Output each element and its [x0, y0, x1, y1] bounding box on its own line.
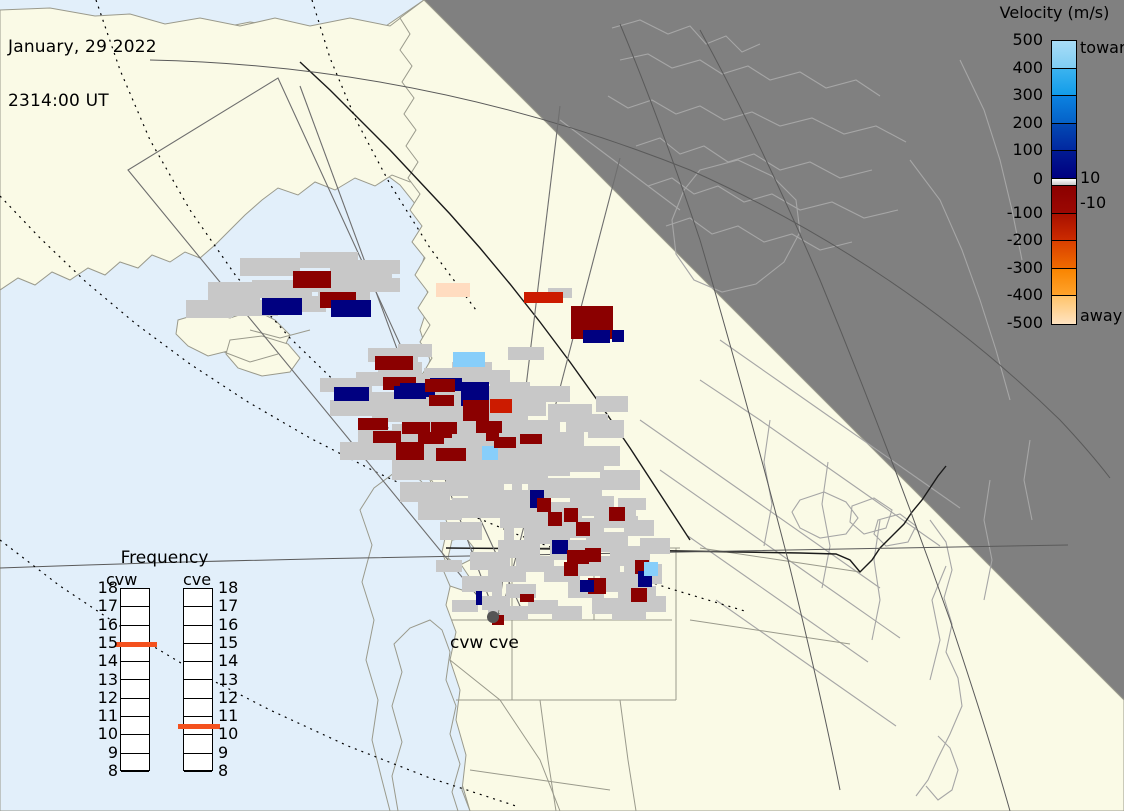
frequency-bar-cvw[interactable] [120, 588, 150, 771]
site-label-cvw: cvw [450, 633, 483, 653]
velocity-tick-100: 100 [1012, 142, 1043, 158]
velocity-band--400-to--300 [1052, 269, 1076, 297]
velocity-band--100-to--10 [1052, 186, 1076, 214]
velocity-cell [537, 498, 551, 512]
radar-fan-plot: January, 29 2022 2314:00 UT Velocity (m/… [0, 0, 1124, 811]
velocity-cell [524, 292, 563, 303]
velocity-cell [436, 283, 470, 297]
velocity-tick-400: 400 [1012, 60, 1043, 76]
velocity-cell [609, 507, 625, 521]
velocity-legend-title: Velocity (m/s) [985, 3, 1124, 22]
frequency-tick-cve-11: 11 [218, 708, 238, 724]
velocity-cell [425, 379, 455, 392]
velocity-band-10-to-100 [1052, 151, 1076, 179]
frequency-cell [184, 644, 212, 662]
velocity-tick-500: 500 [1012, 32, 1043, 48]
velocity-cell [463, 400, 489, 421]
frequency-cell [184, 680, 212, 698]
velocity-inner-lower-label: -10 [1080, 195, 1106, 211]
velocity-colorbar [1051, 40, 1077, 325]
frequency-tick-cvw-15: 15 [98, 635, 118, 651]
velocity-tick-300: 300 [1012, 87, 1043, 103]
velocity-cell [520, 434, 542, 444]
frequency-cell [184, 626, 212, 644]
frequency-tick-cvw-14: 14 [98, 653, 118, 669]
frequency-tick-cve-16: 16 [218, 617, 238, 633]
velocity-cell [331, 300, 371, 317]
velocity-tick--400: -400 [1007, 287, 1043, 303]
frequency-tick-cve-8: 8 [218, 763, 228, 779]
velocity-cell [396, 442, 424, 460]
frequency-cell [121, 607, 149, 625]
frequency-tick-cve-12: 12 [218, 690, 238, 706]
frequency-tick-cve-10: 10 [218, 726, 238, 742]
velocity-band-200-to-300 [1052, 96, 1076, 124]
frequency-tick-cvw-12: 12 [98, 690, 118, 706]
frequency-cell [184, 662, 212, 680]
velocity-band--500-to--400 [1052, 296, 1076, 324]
frequency-tick-cvw-8: 8 [108, 763, 118, 779]
velocity-cell [440, 428, 452, 438]
frequency-cell [184, 754, 212, 772]
velocity-cell [429, 395, 454, 406]
site-label-cve: cve [489, 633, 519, 653]
frequency-tick-cvw-11: 11 [98, 708, 118, 724]
frequency-tick-cvw-9: 9 [108, 745, 118, 761]
velocity-cell [631, 588, 647, 602]
timestamp-time: 2314:00 UT [8, 92, 157, 110]
frequency-tick-cvw-17: 17 [98, 598, 118, 614]
frequency-cell [121, 589, 149, 607]
frequency-cell [184, 735, 212, 753]
frequency-cell [121, 754, 149, 772]
frequency-cell [121, 680, 149, 698]
frequency-tick-cvw-10: 10 [98, 726, 118, 742]
frequency-tick-cve-18: 18 [218, 580, 238, 596]
frequency-tick-cve-14: 14 [218, 653, 238, 669]
velocity-band-100-to-200 [1052, 124, 1076, 152]
velocity-tick--500: -500 [1007, 315, 1043, 331]
velocity-cell [375, 356, 413, 370]
velocity-cell [552, 540, 568, 554]
velocity-cell [583, 330, 610, 343]
frequency-cell [184, 589, 212, 607]
timestamp-block: January, 29 2022 2314:00 UT [8, 2, 157, 146]
frequency-cell [121, 735, 149, 753]
velocity-band-400-to-500 [1052, 41, 1076, 69]
velocity-cell [262, 298, 302, 315]
frequency-cell [121, 662, 149, 680]
frequency-tick-cvw-18: 18 [98, 580, 118, 596]
frequency-bar-cve[interactable] [183, 588, 213, 771]
velocity-toward-label: toward [1080, 40, 1124, 56]
velocity-band--300-to--200 [1052, 241, 1076, 269]
frequency-marker-cvw [115, 642, 157, 647]
velocity-tick-labels: 5004003002001000-100-200-300-400-500 [985, 30, 1047, 330]
frequency-legend-title: Frequency [82, 548, 247, 568]
velocity-cell [476, 591, 482, 605]
velocity-tick--300: -300 [1007, 260, 1043, 276]
velocity-tick--100: -100 [1007, 205, 1043, 221]
frequency-cell [121, 699, 149, 717]
frequency-tick-cve-9: 9 [218, 745, 228, 761]
frequency-tick-cvw-16: 16 [98, 617, 118, 633]
velocity-legend: Velocity (m/s) 5004003002001000-100-200-… [985, 0, 1124, 340]
velocity-band--10-to-10 [1052, 179, 1076, 186]
velocity-cell [482, 446, 498, 460]
radar-site-marker [487, 611, 499, 623]
frequency-column-header-cve: cve [183, 570, 211, 589]
velocity-cell [373, 431, 401, 443]
velocity-cell [576, 522, 590, 536]
velocity-cell [520, 594, 534, 602]
velocity-side-labels: toward 10 -10 away [1080, 30, 1124, 330]
frequency-tick-cve-15: 15 [218, 635, 238, 651]
velocity-cell [564, 562, 578, 576]
frequency-marker-cve [178, 724, 220, 729]
velocity-cell [453, 352, 485, 367]
velocity-cell [494, 437, 516, 448]
frequency-cell [121, 717, 149, 735]
velocity-band-300-to-400 [1052, 69, 1076, 97]
velocity-cell [293, 271, 331, 288]
velocity-cell [548, 512, 562, 526]
timestamp-date: January, 29 2022 [8, 38, 157, 56]
frequency-tick-cve-17: 17 [218, 598, 238, 614]
velocity-band--200-to--100 [1052, 214, 1076, 242]
velocity-cell [612, 330, 624, 342]
velocity-tick-0: 0 [1033, 171, 1043, 187]
velocity-cell [585, 548, 601, 562]
velocity-away-label: away [1080, 308, 1122, 324]
frequency-cell [184, 699, 212, 717]
velocity-tick--200: -200 [1007, 232, 1043, 248]
frequency-tick-cve-13: 13 [218, 672, 238, 688]
velocity-cell [564, 508, 578, 522]
velocity-cell [334, 387, 369, 401]
velocity-cell [580, 580, 594, 592]
velocity-tick-200: 200 [1012, 115, 1043, 131]
velocity-inner-upper-label: 10 [1080, 170, 1100, 186]
velocity-cell [644, 562, 658, 576]
frequency-cell [184, 607, 212, 625]
velocity-cell [490, 399, 512, 413]
velocity-cell [358, 418, 388, 430]
velocity-cell [436, 448, 466, 461]
frequency-tick-cvw-13: 13 [98, 672, 118, 688]
